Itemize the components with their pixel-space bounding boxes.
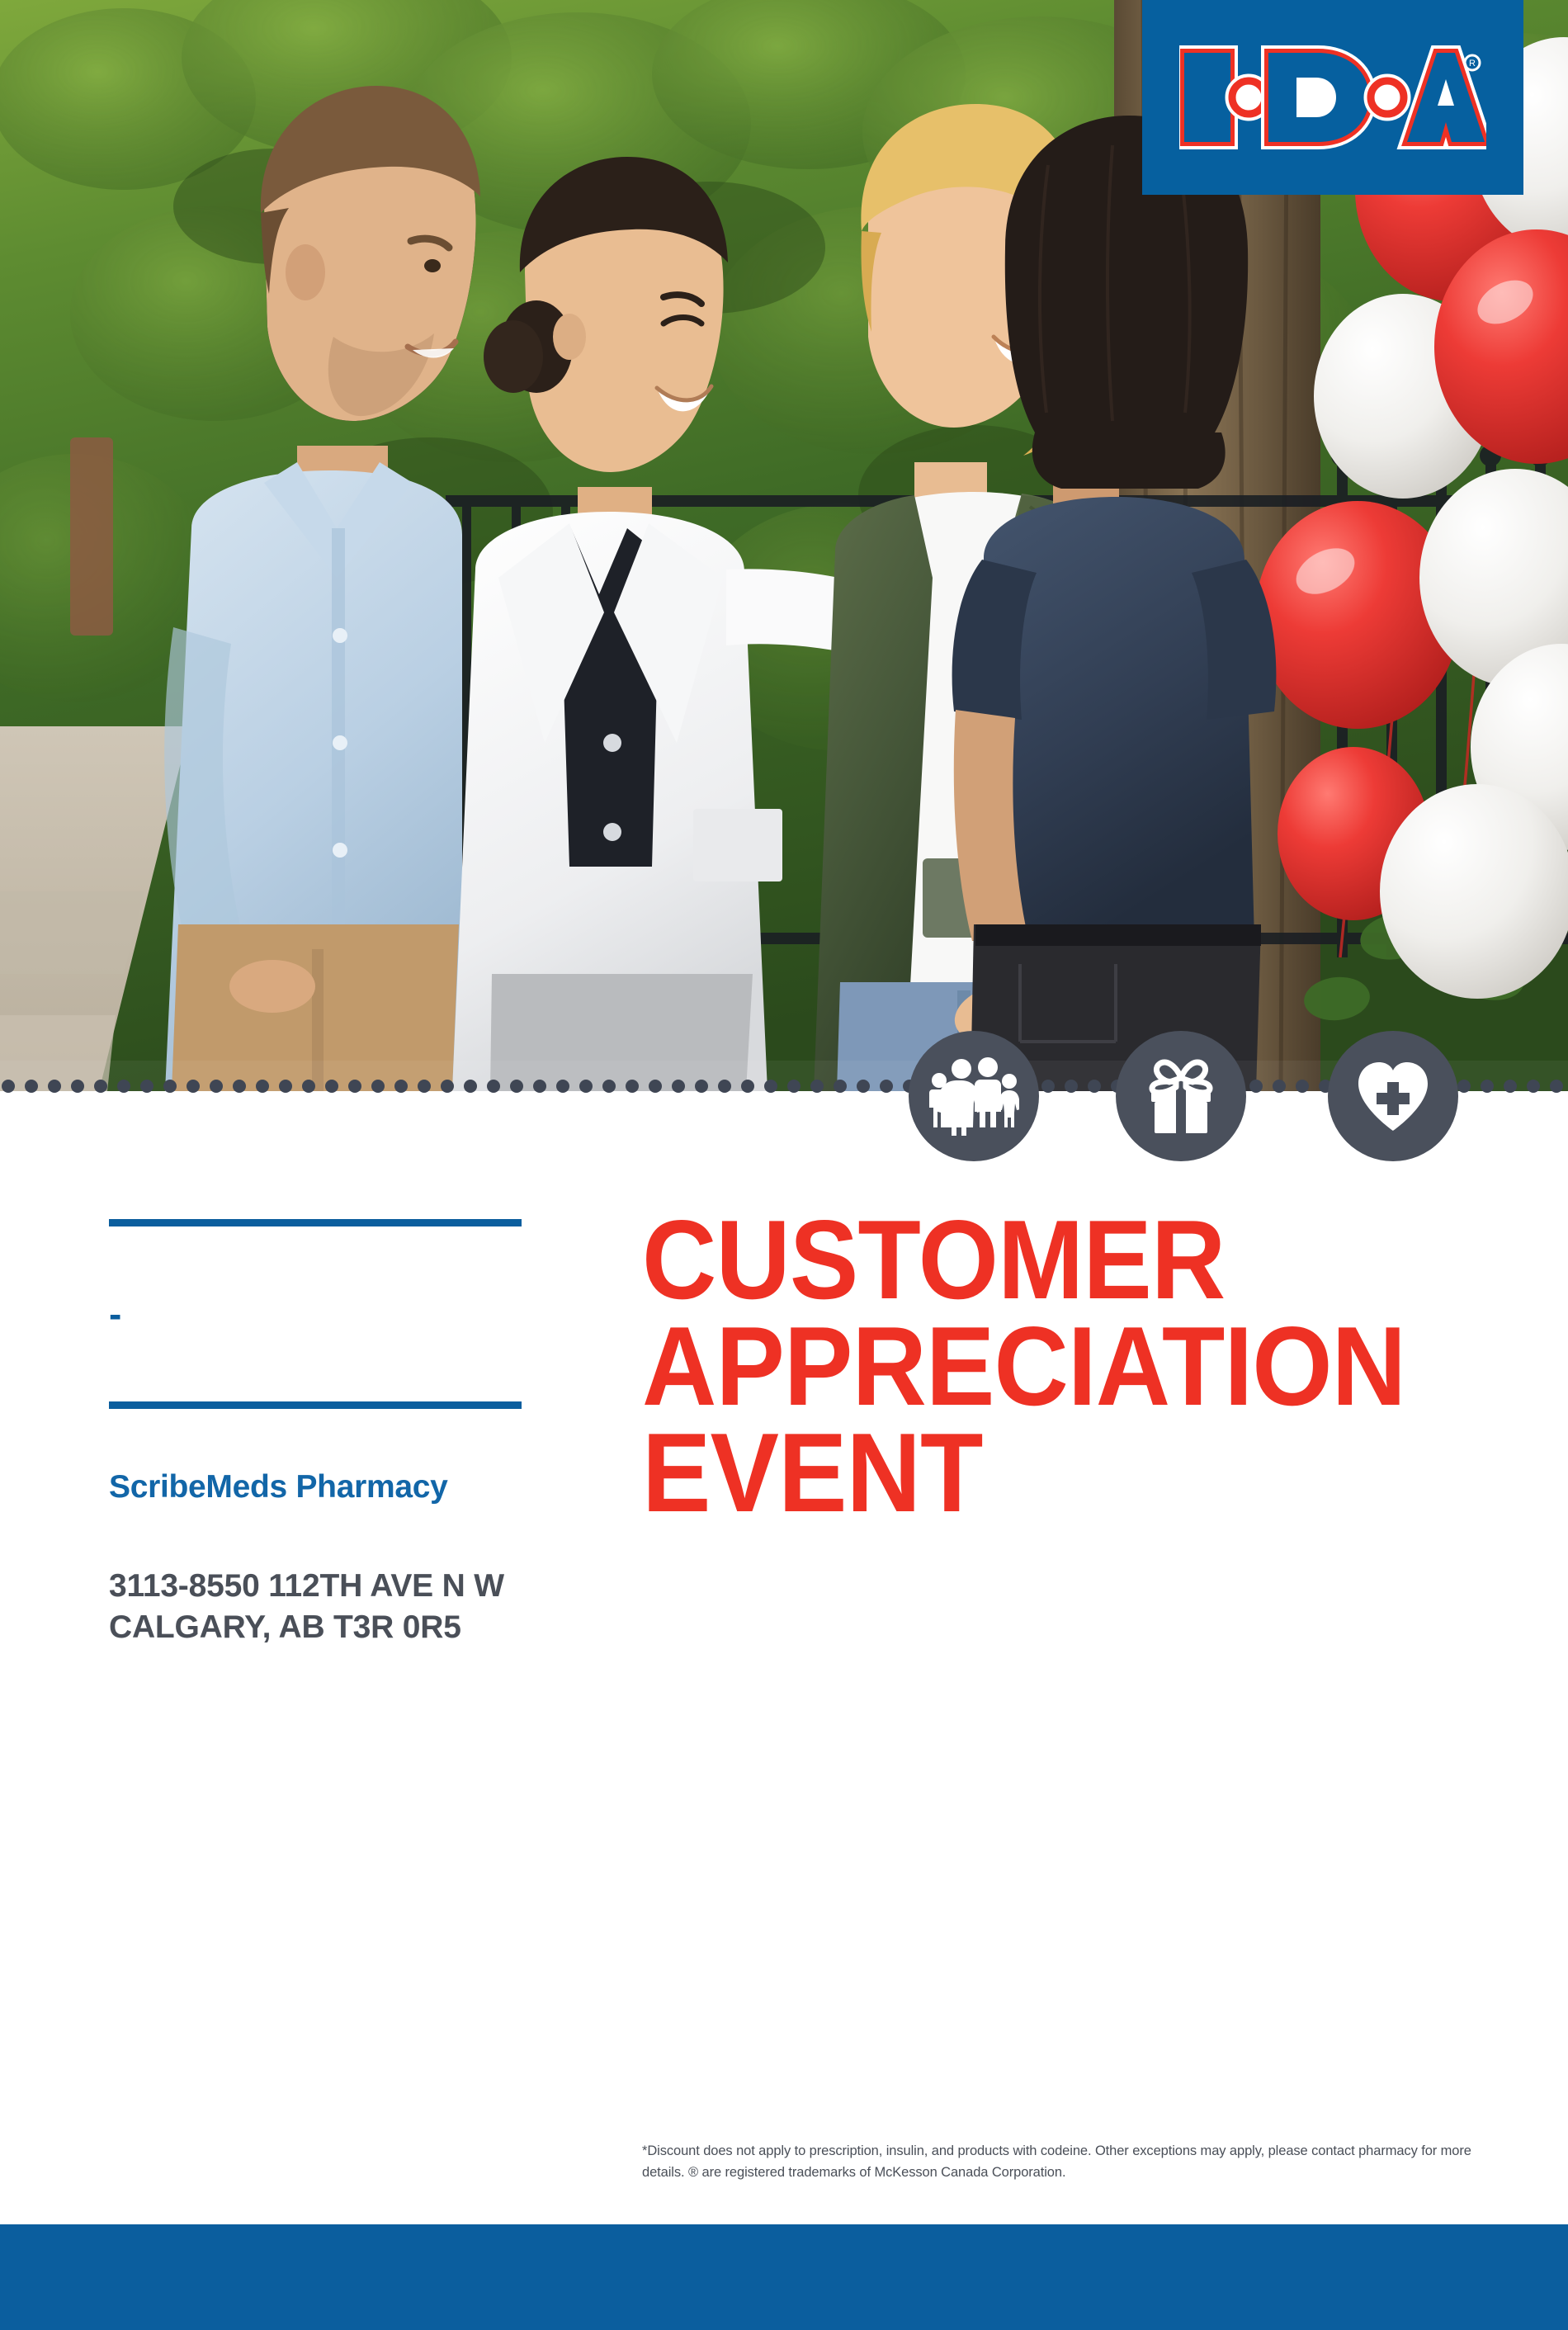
offer-rule-top [109,1219,522,1226]
poster-root: R [0,0,1568,2330]
store-address: 3113-8550 112TH AVE N W CALGARY, AB T3R … [109,1566,538,1648]
store-address-line-2: CALGARY, AB T3R 0R5 [109,1607,538,1648]
ida-logo-box: R [1142,0,1523,195]
health-badge [1328,1031,1458,1161]
svg-text:R: R [1469,59,1476,69]
store-address-line-1: 3113-8550 112TH AVE N W [109,1566,538,1607]
family-icon [928,1056,1019,1136]
offer-rule-bottom [109,1401,522,1409]
headline-line-2: APPRECIATION [642,1313,1462,1420]
page-title: CUSTOMER APPRECIATION EVENT [642,1207,1533,1527]
footer-bar [0,2224,1568,2330]
content-area: - ScribeMeds Pharmacy 3113-8550 112TH AV… [0,1091,1568,2224]
store-name: ScribeMeds Pharmacy [109,1469,538,1506]
headline-line-1: CUSTOMER [642,1207,1462,1313]
ida-logo-icon: R [1179,45,1486,150]
offer-and-store-block: - ScribeMeds Pharmacy 3113-8550 112TH AV… [109,1219,538,1648]
offer-value: - [109,1226,538,1401]
health-heart-icon [1353,1059,1433,1133]
gift-icon [1143,1057,1219,1135]
headline-line-3: EVENT [642,1420,1462,1526]
disclaimer-text: *Discount does not apply to prescription… [642,2141,1476,2183]
gift-badge [1116,1031,1246,1161]
disclaimer: *Discount does not apply to prescription… [642,2141,1476,2183]
family-badge [909,1031,1039,1161]
